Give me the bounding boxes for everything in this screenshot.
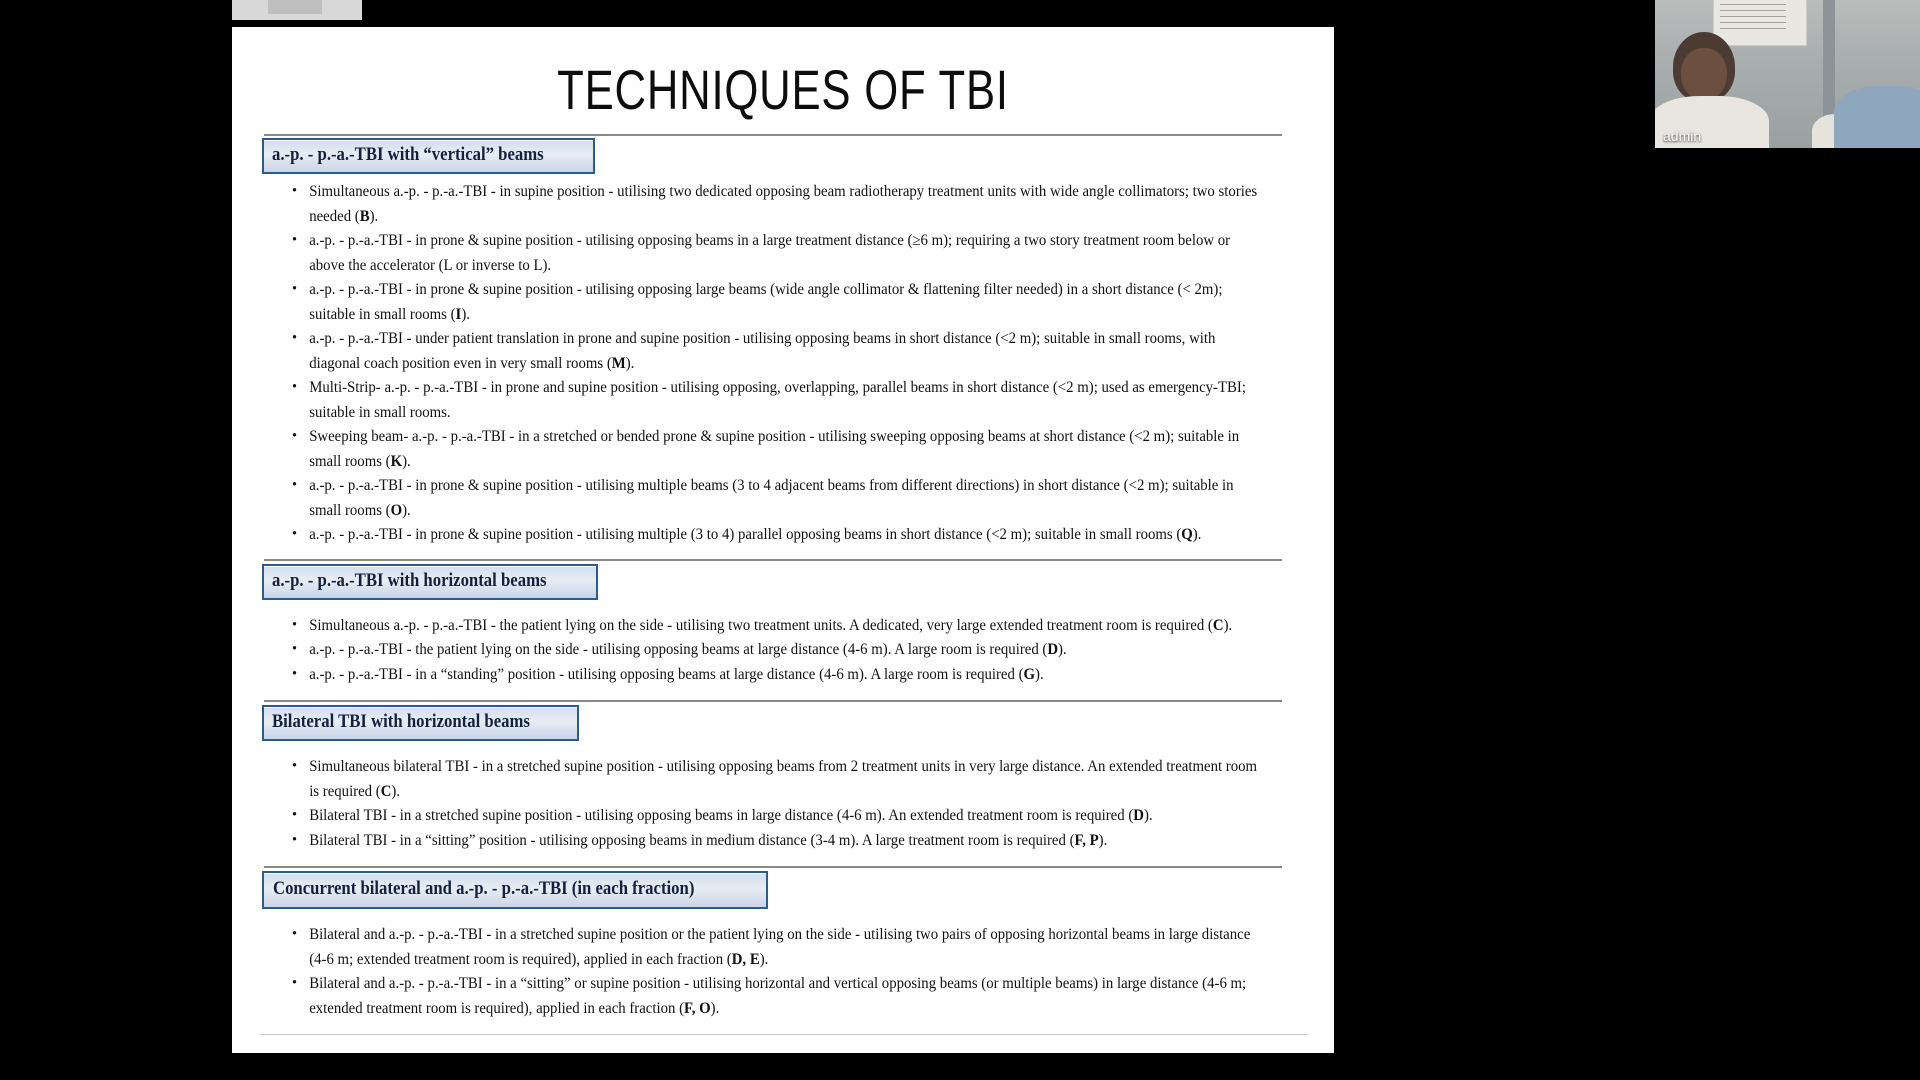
list-item: Bilateral TBI - in a stretched supine po… — [292, 804, 1262, 829]
list-item: a.-p. - p.-a.-TBI - under patient transl… — [292, 327, 1262, 376]
list-item: a.-p. - p.-a.-TBI - in a “standing” posi… — [292, 663, 1262, 688]
slide-bottom-rule — [260, 1034, 1308, 1035]
list-item: a.-p. - p.-a.-TBI - in prone & supine po… — [292, 229, 1262, 278]
webcam-whiteboard — [1713, 0, 1807, 46]
list-item: Bilateral and a.-p. - p.-a.-TBI - in a s… — [292, 923, 1262, 972]
section-top-rule — [264, 559, 1282, 561]
list-item: Bilateral and a.-p. - p.-a.-TBI - in a “… — [292, 972, 1262, 1021]
slide-body: a.-p. - p.-a.-TBI with “vertical” beams … — [232, 138, 1334, 1021]
webcam-video-tile[interactable]: admin — [1655, 0, 1920, 148]
list-item: Simultaneous bilateral TBI - in a stretc… — [292, 755, 1262, 804]
section-header-horizontal-beams: a.-p. - p.-a.-TBI with horizontal beams — [262, 564, 598, 600]
section-vertical-beams: a.-p. - p.-a.-TBI with “vertical” beams … — [248, 138, 1308, 548]
list-item: Simultaneous a.-p. - p.-a.-TBI - the pat… — [292, 614, 1262, 639]
section-horizontal-beams: a.-p. - p.-a.-TBI with horizontal beams … — [248, 564, 1308, 688]
webcam-person-face — [1681, 48, 1727, 100]
list-item: a.-p. - p.-a.-TBI - in prone & supine po… — [292, 523, 1262, 548]
list-item: Simultaneous a.-p. - p.-a.-TBI - in supi… — [292, 180, 1262, 229]
webcam-whiteboard-lines — [1720, 4, 1786, 34]
share-top-artifact-secondary — [268, 0, 322, 14]
bullet-list-bilateral-tbi: Simultaneous bilateral TBI - in a stretc… — [248, 755, 1308, 853]
section-header-vertical-beams: a.-p. - p.-a.-TBI with “vertical” beams — [262, 138, 595, 174]
bullet-list-vertical-beams: Simultaneous a.-p. - p.-a.-TBI - in supi… — [248, 180, 1308, 548]
section-header-label: Bilateral TBI with horizontal beams — [272, 711, 530, 733]
list-item: a.-p. - p.-a.-TBI - the patient lying on… — [292, 638, 1262, 663]
list-item: Multi-Strip- a.-p. - p.-a.-TBI - in pron… — [292, 376, 1262, 425]
section-header-label: Concurrent bilateral and a.-p. - p.-a.-T… — [273, 878, 694, 900]
list-item: a.-p. - p.-a.-TBI - in prone & supine po… — [292, 278, 1262, 327]
section-top-rule — [264, 700, 1282, 702]
section-header-bilateral-tbi: Bilateral TBI with horizontal beams — [262, 705, 579, 741]
shared-slide: TECHNIQUES OF TBI a.-p. - p.-a.-TBI with… — [232, 27, 1334, 1053]
bullet-list-horizontal-beams: Simultaneous a.-p. - p.-a.-TBI - the pat… — [248, 614, 1308, 688]
bullet-list-concurrent-bilateral: Bilateral and a.-p. - p.-a.-TBI - in a s… — [248, 923, 1308, 1021]
section-header-concurrent-bilateral: Concurrent bilateral and a.-p. - p.-a.-T… — [262, 871, 768, 909]
section-top-rule — [264, 134, 1282, 136]
section-bilateral-tbi: Bilateral TBI with horizontal beams Simu… — [248, 705, 1308, 853]
list-item: Bilateral TBI - in a “sitting” position … — [292, 829, 1262, 854]
section-concurrent-bilateral: Concurrent bilateral and a.-p. - p.-a.-T… — [248, 871, 1308, 1021]
section-header-label: a.-p. - p.-a.-TBI with “vertical” beams — [272, 144, 544, 166]
section-top-rule — [264, 866, 1282, 868]
list-item: a.-p. - p.-a.-TBI - in prone & supine po… — [292, 474, 1262, 523]
webcam-second-person-torso — [1834, 86, 1920, 148]
page-title: TECHNIQUES OF TBI — [353, 27, 1213, 136]
list-item: Sweeping beam- a.-p. - p.-a.-TBI - in a … — [292, 425, 1262, 474]
screen-share-stage: TECHNIQUES OF TBI a.-p. - p.-a.-TBI with… — [0, 0, 1920, 1080]
participant-name-label: admin — [1663, 128, 1701, 144]
section-header-label: a.-p. - p.-a.-TBI with horizontal beams — [272, 570, 547, 592]
